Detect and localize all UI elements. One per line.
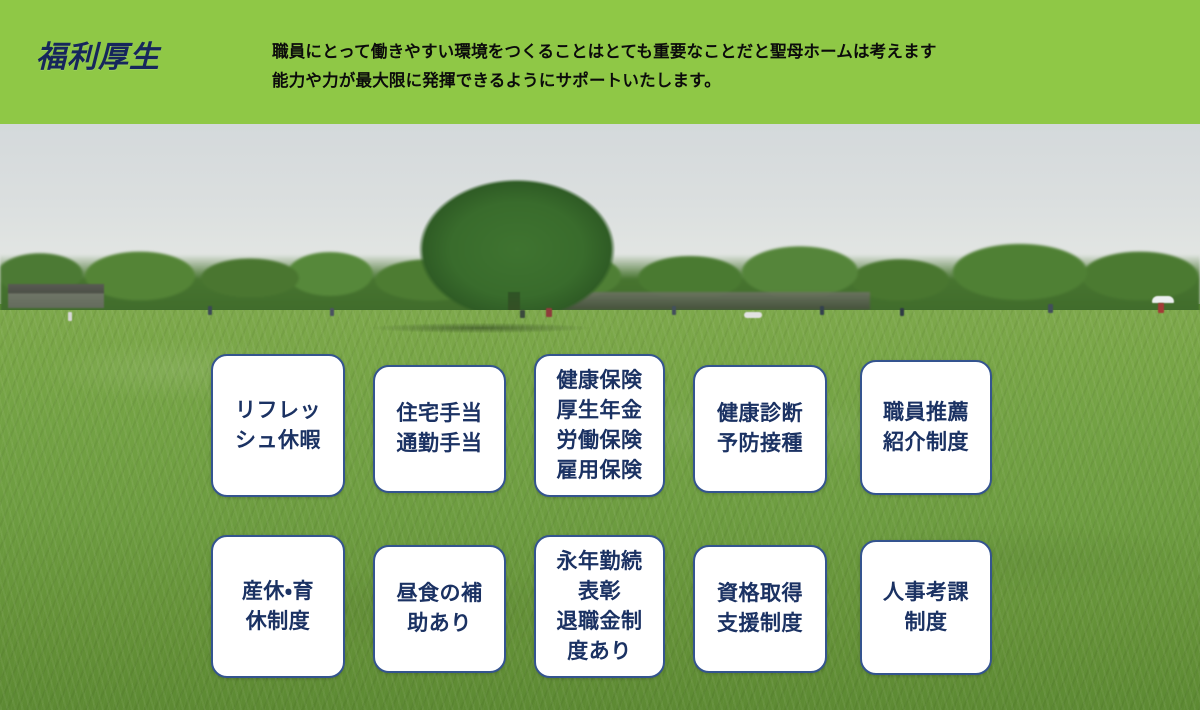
person-figure <box>820 306 824 315</box>
benefit-card[interactable]: 産休・育 休制度 <box>211 535 345 678</box>
benefit-card-label: 健康診断 予防接種 <box>717 399 803 459</box>
benefit-card[interactable]: リフレッ シュ休暇 <box>211 354 345 497</box>
benefit-card[interactable]: 健康保険 厚生年金 労働保険 雇用保険 <box>534 354 665 497</box>
benefit-card-label: 人事考課 制度 <box>883 578 969 638</box>
tree-shadow <box>330 322 630 334</box>
header-description-line-1: 職員にとって働きやすい環境をつくることはとても重要なことだと聖母ホームは考えます <box>272 38 1152 67</box>
benefit-card[interactable]: 職員推薦 紹介制度 <box>860 360 992 495</box>
person-figure <box>1158 303 1164 313</box>
person-figure <box>672 306 676 315</box>
person-figure <box>330 308 334 316</box>
person-figure <box>744 312 762 318</box>
person-figure <box>520 310 525 318</box>
person-figure <box>208 306 212 315</box>
benefit-card[interactable]: 住宅手当 通勤手当 <box>373 365 506 493</box>
header-description-line-2: 能力や力が最大限に発揮できるようにサポートいたします。 <box>272 67 1152 96</box>
benefit-card[interactable]: 永年勤続 表彰 退職金制 度あり <box>534 535 665 678</box>
benefit-card[interactable]: 資格取得 支援制度 <box>693 545 827 673</box>
benefit-card-label: 資格取得 支援制度 <box>717 579 803 639</box>
umbrella-figure <box>1152 296 1174 303</box>
benefit-card[interactable]: 健康診断 予防接種 <box>693 365 827 493</box>
benefits-page: 福利厚生 職員にとって働きやすい環境をつくることはとても重要なことだと聖母ホーム… <box>0 0 1200 710</box>
person-figure <box>546 308 552 317</box>
benefit-card[interactable]: 昼食の補 助あり <box>373 545 506 673</box>
benefit-card-label: 健康保険 厚生年金 労働保険 雇用保険 <box>557 366 643 486</box>
benefit-card[interactable]: 人事考課 制度 <box>860 540 992 675</box>
benefit-card-label: リフレッ シュ休暇 <box>235 396 321 456</box>
header-description: 職員にとって働きやすい環境をつくることはとても重要なことだと聖母ホームは考えます… <box>272 38 1152 96</box>
page-title: 福利厚生 <box>36 32 160 76</box>
benefit-card-label: 住宅手当 通勤手当 <box>397 399 483 459</box>
benefit-card-label: 産休・育 休制度 <box>242 577 314 637</box>
person-figure <box>900 308 904 316</box>
park-pavilion <box>8 284 104 308</box>
person-figure <box>68 312 72 321</box>
person-figure <box>1048 304 1053 313</box>
page-header: 福利厚生 職員にとって働きやすい環境をつくることはとても重要なことだと聖母ホーム… <box>0 0 1200 124</box>
benefit-card-label: 永年勤続 表彰 退職金制 度あり <box>557 547 643 667</box>
benefit-card-label: 職員推薦 紹介制度 <box>883 398 969 458</box>
benefit-card-label: 昼食の補 助あり <box>397 579 483 639</box>
